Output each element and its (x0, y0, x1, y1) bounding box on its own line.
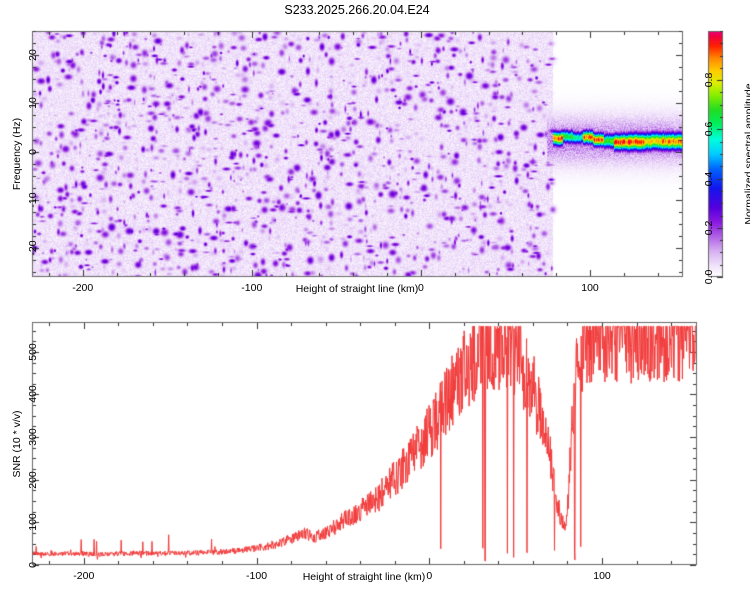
snr-ytick-4: 400 (28, 386, 39, 404)
snr-ytick-0: 0 (28, 562, 39, 568)
spectrogram-xtick-0: -200 (72, 283, 93, 294)
colorbar-tick-1: 0.2 (704, 220, 715, 235)
tick-label-layer: -200-1000100-20-10010200.00.20.40.60.8-2… (0, 0, 750, 600)
spectrogram-ytick-2: 0 (28, 149, 39, 155)
spectrogram-xtick-1: -100 (241, 283, 262, 294)
snr-xtick-1: -100 (246, 571, 267, 582)
colorbar-tick-3: 0.6 (704, 122, 715, 137)
snr-ytick-3: 300 (28, 428, 39, 446)
colorbar-tick-4: 0.8 (704, 73, 715, 88)
spectrogram-ytick-3: 10 (28, 98, 39, 110)
snr-xtick-3: 100 (593, 571, 611, 582)
colorbar-tick-2: 0.4 (704, 171, 715, 186)
snr-ytick-1: 100 (28, 514, 39, 532)
colorbar-tick-0: 0.0 (704, 270, 715, 285)
figure-container: S233.2025.266.20.04.E24 Height of straig… (0, 0, 750, 600)
spectrogram-ytick-0: -20 (28, 240, 39, 255)
snr-ytick-5: 500 (28, 343, 39, 361)
spectrogram-xtick-3: 100 (581, 283, 599, 294)
spectrogram-xtick-2: 0 (418, 283, 424, 294)
spectrogram-ytick-4: 20 (28, 49, 39, 61)
snr-xtick-0: -200 (73, 571, 94, 582)
snr-xtick-2: 0 (426, 571, 432, 582)
snr-ytick-2: 200 (28, 471, 39, 489)
spectrogram-ytick-1: -10 (28, 192, 39, 207)
